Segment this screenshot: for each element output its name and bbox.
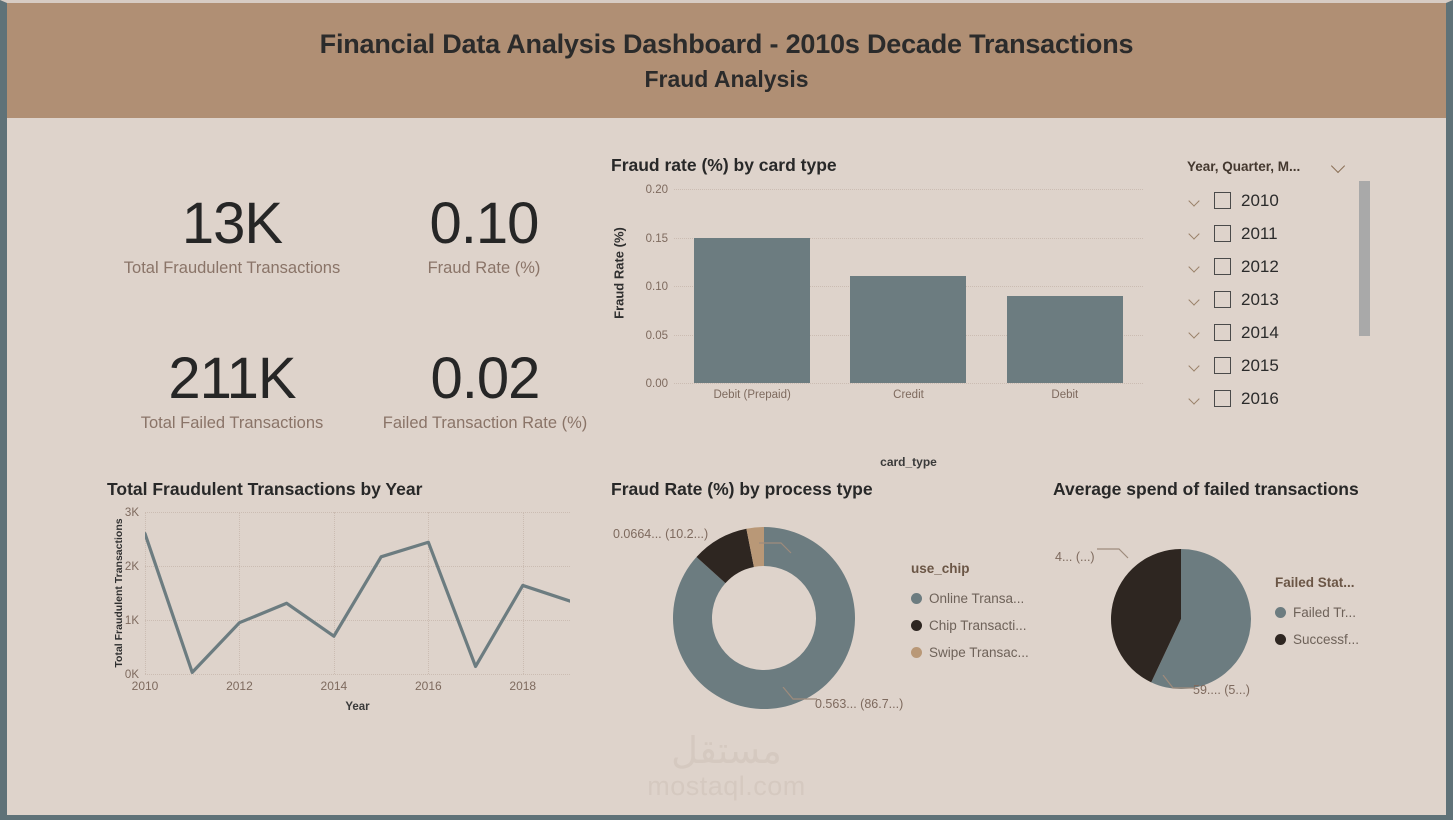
grid-line: 0.00	[674, 383, 1143, 384]
checkbox[interactable]	[1214, 324, 1231, 341]
legend-item[interactable]: Chip Transacti...	[911, 612, 1029, 639]
chart-title: Fraud Rate (%) by process type	[611, 479, 873, 500]
y-axis-tick-label: 0.00	[646, 378, 668, 390]
kpi-label: Failed Transaction Rate (%)	[365, 412, 605, 434]
expand-icon[interactable]	[1187, 329, 1214, 337]
legend-label: Chip Transacti...	[929, 618, 1027, 633]
bar-series	[674, 189, 1143, 383]
checkbox[interactable]	[1214, 291, 1231, 308]
y-axis-tick-label: 1K	[125, 615, 139, 627]
slicer-item-2011[interactable]: 2011	[1187, 217, 1372, 250]
slicer-item-2014[interactable]: 2014	[1187, 316, 1372, 349]
legend-label: Swipe Transac...	[929, 645, 1029, 660]
line-plot-area: 0K1K2K3K	[145, 512, 570, 674]
x-axis-tick-labels: Debit (Prepaid)CreditDebit	[674, 389, 1143, 401]
donut-leader-line-online	[779, 687, 819, 707]
legend-items[interactable]: Online Transa...Chip Transacti...Swipe T…	[911, 585, 1029, 666]
year-slicer[interactable]: Year, Quarter, M... 20102011201220132014…	[1187, 155, 1372, 415]
watermark: مستقل mostaql.com	[7, 731, 1446, 801]
legend-color-swatch	[1275, 607, 1286, 618]
kpi-card-total-fraudulent-transactions[interactable]: 13K Total Fraudulent Transactions	[107, 193, 357, 279]
y-axis-tick-label: 0.05	[646, 330, 668, 342]
slicer-header[interactable]: Year, Quarter, M...	[1187, 155, 1343, 177]
y-axis-tick-label: 2K	[125, 561, 139, 573]
legend-item[interactable]: Failed Tr...	[1275, 599, 1359, 626]
watermark-latin: mostaql.com	[7, 771, 1446, 801]
chart-average-spend-failed-transactions[interactable]: Average spend of failed transactions 4..…	[1053, 479, 1453, 739]
dashboard-header: Financial Data Analysis Dashboard - 2010…	[7, 3, 1446, 118]
checkbox[interactable]	[1214, 390, 1231, 407]
x-axis-tick-label: Credit	[830, 389, 986, 401]
kpi-value: 13K	[107, 193, 357, 255]
slicer-item-label: 2011	[1241, 224, 1278, 244]
legend-color-swatch	[1275, 634, 1286, 645]
kpi-label: Total Failed Transactions	[107, 412, 357, 434]
legend-item[interactable]: Swipe Transac...	[911, 639, 1029, 666]
donut-callout-online: 0.563... (86.7...)	[815, 697, 903, 711]
chevron-down-icon[interactable]	[1188, 327, 1199, 338]
checkbox[interactable]	[1214, 225, 1231, 242]
chevron-down-icon[interactable]	[1188, 261, 1199, 272]
slicer-item-2012[interactable]: 2012	[1187, 250, 1372, 283]
expand-icon[interactable]	[1187, 395, 1214, 403]
chevron-down-icon[interactable]	[1188, 360, 1199, 371]
slicer-item-label: 2014	[1241, 323, 1279, 343]
slicer-item-2015[interactable]: 2015	[1187, 349, 1372, 382]
x-axis-tick-label: 2016	[415, 679, 442, 693]
bar-debit-prepaid[interactable]	[694, 238, 810, 384]
page-title-line1: Financial Data Analysis Dashboard - 2010…	[320, 26, 1134, 63]
x-axis-tick-labels: 20102012201420162018	[145, 679, 570, 695]
slicer-item-label: 2015	[1241, 356, 1279, 376]
y-axis-tick-label: 0.20	[646, 184, 668, 196]
chart-title: Average spend of failed transactions	[1053, 479, 1359, 500]
checkbox[interactable]	[1214, 192, 1231, 209]
kpi-label: Total Fraudulent Transactions	[107, 257, 357, 279]
expand-icon[interactable]	[1187, 263, 1214, 271]
legend-title: Failed Stat...	[1275, 575, 1359, 590]
checkbox[interactable]	[1214, 258, 1231, 275]
x-axis-tick-label: 2018	[509, 679, 536, 693]
chart-fraudulent-transactions-by-year[interactable]: Total Fraudulent Transactions by Year To…	[107, 479, 607, 739]
legend-color-swatch	[911, 647, 922, 658]
chevron-down-icon[interactable]	[1188, 228, 1199, 239]
y-axis-title: Total Fraudulent Transactions	[113, 518, 125, 667]
legend-color-swatch	[911, 593, 922, 604]
bar-column[interactable]	[987, 189, 1143, 383]
chart-title: Total Fraudulent Transactions by Year	[107, 479, 422, 500]
pie-legend[interactable]: Failed Stat... Failed Tr...Successf...	[1275, 575, 1359, 653]
legend-color-swatch	[911, 620, 922, 631]
slicer-item-label: 2012	[1241, 257, 1279, 277]
kpi-label: Fraud Rate (%)	[379, 257, 589, 279]
y-axis-tick-label: 3K	[125, 507, 139, 519]
pie-leader-line-successful	[1097, 545, 1131, 563]
x-axis-tick-label: Debit	[987, 389, 1143, 401]
legend-title: use_chip	[911, 561, 1029, 576]
chevron-down-icon[interactable]	[1331, 159, 1345, 173]
bar-column[interactable]	[674, 189, 830, 383]
chart-title: Fraud rate (%) by card type	[611, 155, 837, 176]
scrollbar-thumb[interactable]	[1359, 181, 1370, 336]
chart-fraud-rate-by-process-type[interactable]: Fraud Rate (%) by process type 0.0664...…	[611, 479, 1041, 739]
expand-icon[interactable]	[1187, 230, 1214, 238]
legend-label: Failed Tr...	[1293, 605, 1356, 620]
x-axis-tick-label: Debit (Prepaid)	[674, 389, 830, 401]
donut-legend[interactable]: use_chip Online Transa...Chip Transacti.…	[911, 561, 1029, 666]
bar-column[interactable]	[830, 189, 986, 383]
kpi-value: 0.02	[365, 348, 605, 410]
pie-series[interactable]	[1111, 549, 1251, 689]
kpi-value: 211K	[107, 348, 357, 410]
legend-items[interactable]: Failed Tr...Successf...	[1275, 599, 1359, 653]
grid-line: 0K	[145, 674, 570, 675]
y-axis-title: Fraud Rate (%)	[612, 227, 627, 319]
chevron-down-icon[interactable]	[1188, 393, 1199, 404]
legend-item[interactable]: Online Transa...	[911, 585, 1029, 612]
x-axis-tick-label: 2010	[132, 679, 159, 693]
pie-leader-line-failed	[1159, 675, 1197, 695]
expand-icon[interactable]	[1187, 362, 1214, 370]
y-axis-tick-label: 0.15	[646, 233, 668, 245]
slicer-item-2013[interactable]: 2013	[1187, 283, 1372, 316]
chevron-down-icon[interactable]	[1188, 195, 1199, 206]
line-series[interactable]	[145, 512, 570, 674]
bar-credit[interactable]	[850, 276, 966, 383]
page-title-line2: Fraud Analysis	[644, 63, 808, 96]
legend-label: Successf...	[1293, 632, 1359, 647]
x-axis-title: card_type	[674, 455, 1143, 469]
bar-debit[interactable]	[1007, 296, 1123, 383]
donut-leader-line-chip	[759, 539, 799, 557]
bar-plot-area: 0.000.050.100.150.20	[674, 189, 1143, 383]
expand-icon[interactable]	[1187, 296, 1214, 304]
chart-fraud-rate-by-card-type[interactable]: Fraud rate (%) by card type Fraud Rate (…	[611, 155, 1171, 480]
slicer-item-label: 2013	[1241, 290, 1279, 310]
x-axis-tick-label: 2014	[321, 679, 348, 693]
legend-item[interactable]: Successf...	[1275, 626, 1359, 653]
x-axis-title: Year	[145, 701, 570, 713]
kpi-card-fraud-rate[interactable]: 0.10 Fraud Rate (%)	[379, 193, 589, 279]
slicer-item-list[interactable]: 2010201120122013201420152016	[1187, 184, 1372, 415]
pie-callout-successful: 4... (...)	[1055, 550, 1095, 564]
chevron-down-icon[interactable]	[1188, 294, 1199, 305]
y-axis-tick-label: 0.10	[646, 281, 668, 293]
kpi-card-total-failed-transactions[interactable]: 211K Total Failed Transactions	[107, 348, 357, 434]
pie-callout-failed: 59.... (5...)	[1193, 683, 1250, 697]
slicer-title: Year, Quarter, M...	[1187, 159, 1300, 174]
kpi-card-failed-transaction-rate[interactable]: 0.02 Failed Transaction Rate (%)	[365, 348, 605, 434]
kpi-value: 0.10	[379, 193, 589, 255]
checkbox[interactable]	[1214, 357, 1231, 374]
slicer-item-2016[interactable]: 2016	[1187, 382, 1372, 415]
slicer-scrollbar[interactable]	[1359, 181, 1370, 336]
slicer-item-label: 2010	[1241, 191, 1279, 211]
slicer-item-2010[interactable]: 2010	[1187, 184, 1372, 217]
slicer-item-label: 2016	[1241, 389, 1279, 409]
x-axis-tick-label: 2012	[226, 679, 253, 693]
donut-callout-chip: 0.0664... (10.2...)	[613, 527, 708, 541]
legend-label: Online Transa...	[929, 591, 1024, 606]
expand-icon[interactable]	[1187, 197, 1214, 205]
dashboard-root: Financial Data Analysis Dashboard - 2010…	[0, 0, 1453, 820]
